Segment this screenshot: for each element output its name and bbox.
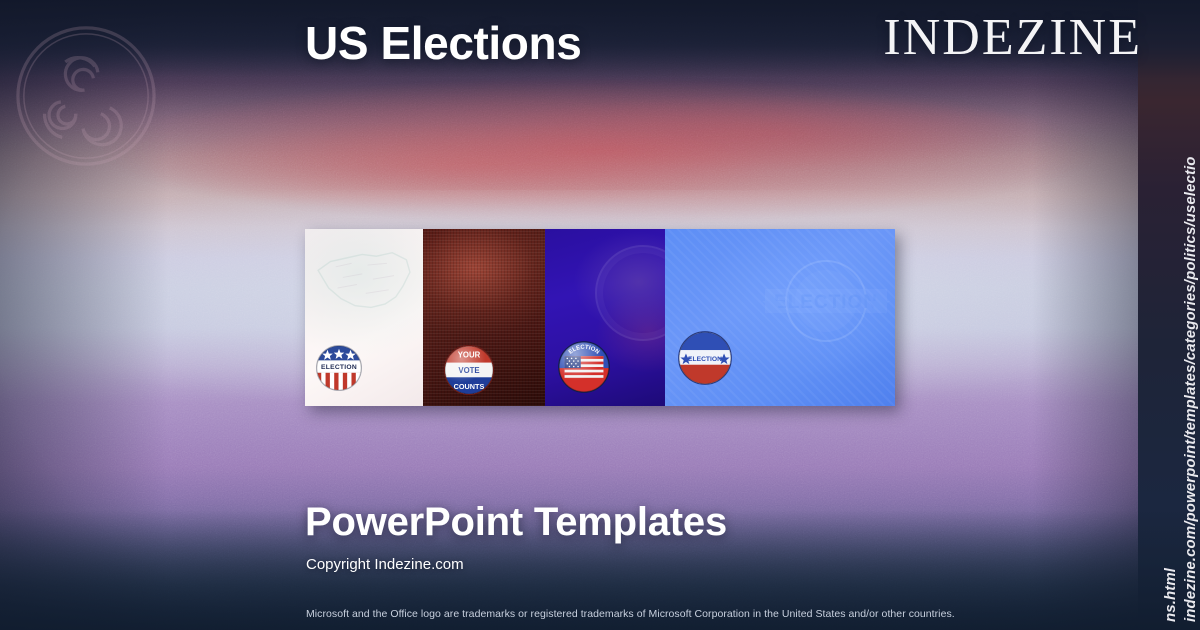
template-thumbnail-strip[interactable]: ELECTION [305,229,895,406]
seal-watermark-icon [595,245,665,341]
url-watermark: indezine.com/powerpoint/templates/catego… [1138,0,1200,630]
election-watermark-icon: ELECTION [751,251,895,351]
svg-text:ELECTION: ELECTION [688,356,722,363]
page-subtitle: PowerPoint Templates [305,500,727,545]
your-vote-counts-badge-icon: YOUR VOTE COUNTS [443,344,495,396]
election-star-badge-icon: ELECTION [677,330,733,386]
triskelion-spiral-icon [12,22,160,170]
page-title: US Elections [305,16,581,70]
slide-canvas: US Elections INDEZINE indezine.com/power… [0,0,1200,630]
template-thumbnail-2[interactable]: YOUR VOTE COUNTS [423,229,545,406]
usa-map-watermark-icon [311,237,417,332]
brand-logo-indezine: INDEZINE [883,8,1142,67]
url-line-1: indezine.com/powerpoint/templates/catego… [1182,156,1199,622]
template-thumbnail-4[interactable]: ELECTION ELECTION [665,229,895,406]
svg-text:ELECTION: ELECTION [774,292,878,313]
election-flag-badge-icon: ELECTION [557,340,611,394]
template-thumbnail-1[interactable]: ELECTION [305,229,423,406]
template-thumbnail-3[interactable]: ELECTION [545,229,665,406]
svg-text:ELECTION: ELECTION [321,364,357,371]
election-badge-icon-1: ELECTION [315,344,363,392]
copyright-text: Copyright Indezine.com [306,556,464,573]
disclaimer-text: Microsoft and the Office logo are tradem… [306,608,955,620]
url-line-2: ns.html [1162,568,1179,622]
